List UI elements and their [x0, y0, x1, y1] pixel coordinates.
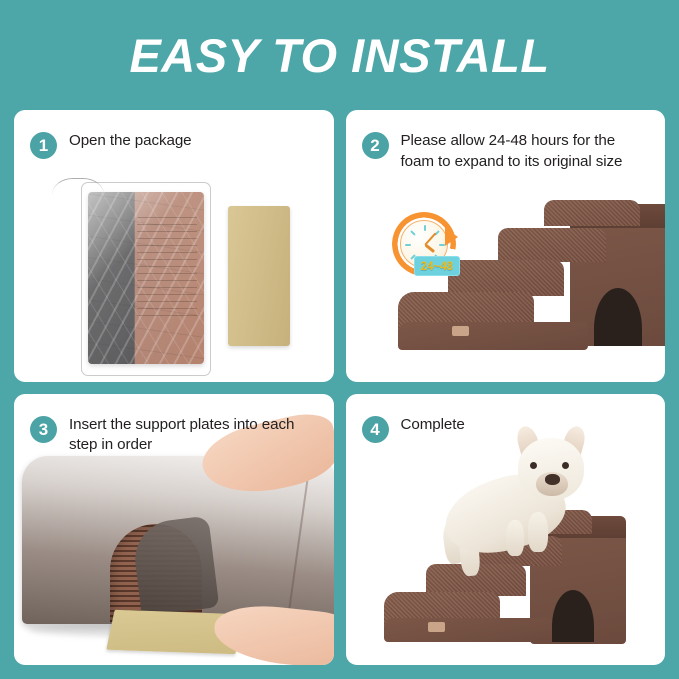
dog-eye-right — [562, 462, 569, 469]
header-banner: EASY TO INSTALL — [0, 0, 679, 110]
stair-tread-2 — [448, 260, 564, 296]
clock-tick-icon — [424, 225, 426, 231]
step-text-1: Open the package — [69, 131, 192, 152]
step-1-header: 1 Open the package — [14, 110, 334, 159]
dog-nose — [545, 474, 560, 485]
step-card-1: 1 Open the package — [14, 110, 334, 382]
stair-front-face — [384, 618, 552, 642]
step-3-header: 3 Insert the support plates into each st… — [14, 394, 334, 457]
step-4-header: 4 Complete — [346, 394, 666, 443]
stair-tread-3 — [498, 228, 606, 262]
brand-tag-icon — [428, 622, 445, 632]
dog-eye-left — [530, 462, 537, 469]
clock-tick-icon — [410, 230, 416, 236]
package-tie-icon — [52, 178, 104, 195]
step-card-3: 3 Insert the support plates into each st… — [14, 394, 334, 666]
step-number-badge-2: 2 — [362, 132, 389, 159]
clock-icon: 24~48 — [392, 212, 456, 276]
step-card-2: 24~48 2 Please allow 24-48 hours for the… — [346, 110, 666, 382]
step-2-header: 2 Please allow 24-48 hours for the foam … — [346, 110, 666, 173]
install-instructions-page: EASY TO INSTALL 1 Open the package — [0, 0, 679, 679]
dog-front-leg — [528, 512, 548, 552]
step-number-badge-1: 1 — [30, 132, 57, 159]
dog-front-leg — [506, 520, 524, 556]
step-card-4: 4 Complete — [346, 394, 666, 666]
step-number-badge-3: 3 — [30, 416, 57, 443]
clock-tick-icon — [405, 244, 411, 246]
page-title: EASY TO INSTALL — [129, 32, 549, 79]
stair-tread-4 — [544, 200, 640, 226]
french-bulldog-image — [444, 424, 600, 594]
package-label-icon — [137, 213, 197, 316]
step-text-2: Please allow 24-48 hours for the foam to… — [401, 131, 633, 173]
steps-grid: 1 Open the package — [14, 110, 665, 665]
vacuum-sealed-package-image — [88, 192, 204, 364]
step-text-3: Insert the support plates into each step… — [69, 415, 301, 457]
support-plate-image — [228, 206, 290, 346]
brand-tag-icon — [452, 326, 469, 336]
step-number-badge-4: 4 — [362, 416, 389, 443]
cover-seam-line — [288, 470, 309, 609]
step-text-4: Complete — [401, 415, 465, 436]
clock-arrow-icon — [445, 228, 458, 246]
stair-front-face — [398, 322, 588, 350]
clock-hours-badge: 24~48 — [414, 256, 460, 276]
clock-minute-hand-icon — [424, 232, 436, 245]
